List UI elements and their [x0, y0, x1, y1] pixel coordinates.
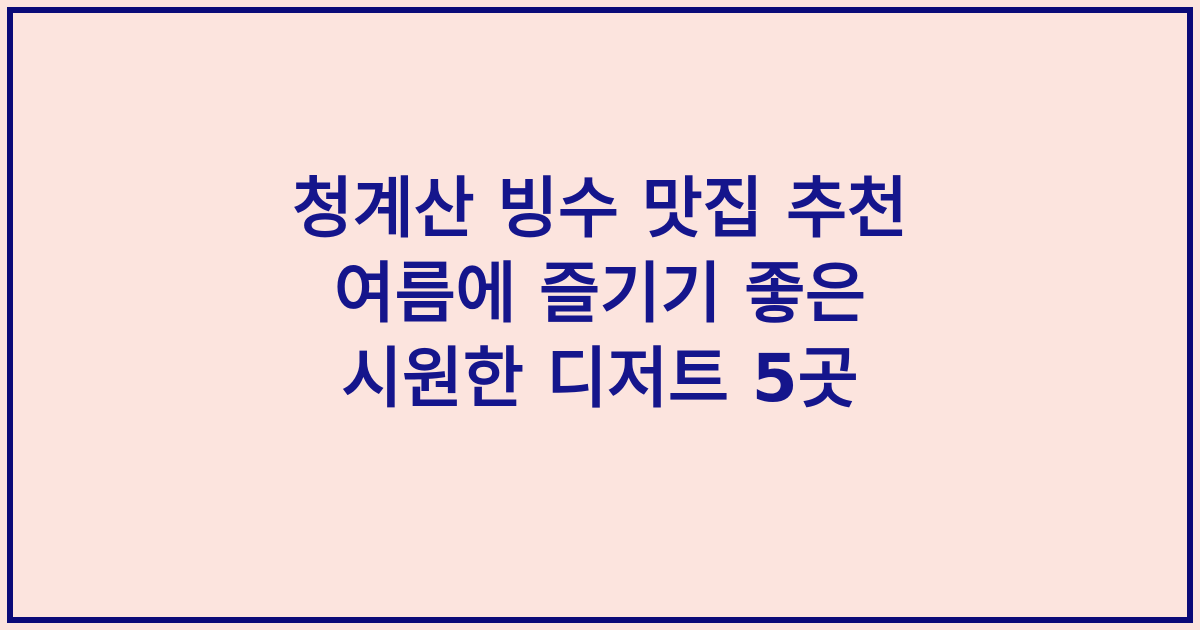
headline-line-3: 시원한 디저트 5곳 [13, 336, 1187, 421]
thumbnail-card: 청계산 빙수 맛집 추천 여름에 즐기기 좋은 시원한 디저트 5곳 [0, 0, 1200, 630]
headline-block: 청계산 빙수 맛집 추천 여름에 즐기기 좋은 시원한 디저트 5곳 [13, 166, 1187, 465]
navy-border-frame: 청계산 빙수 맛집 추천 여름에 즐기기 좋은 시원한 디저트 5곳 [7, 7, 1193, 623]
headline-line-1: 청계산 빙수 맛집 추천 [13, 166, 1187, 251]
headline-line-2: 여름에 즐기기 좋은 [13, 251, 1187, 336]
